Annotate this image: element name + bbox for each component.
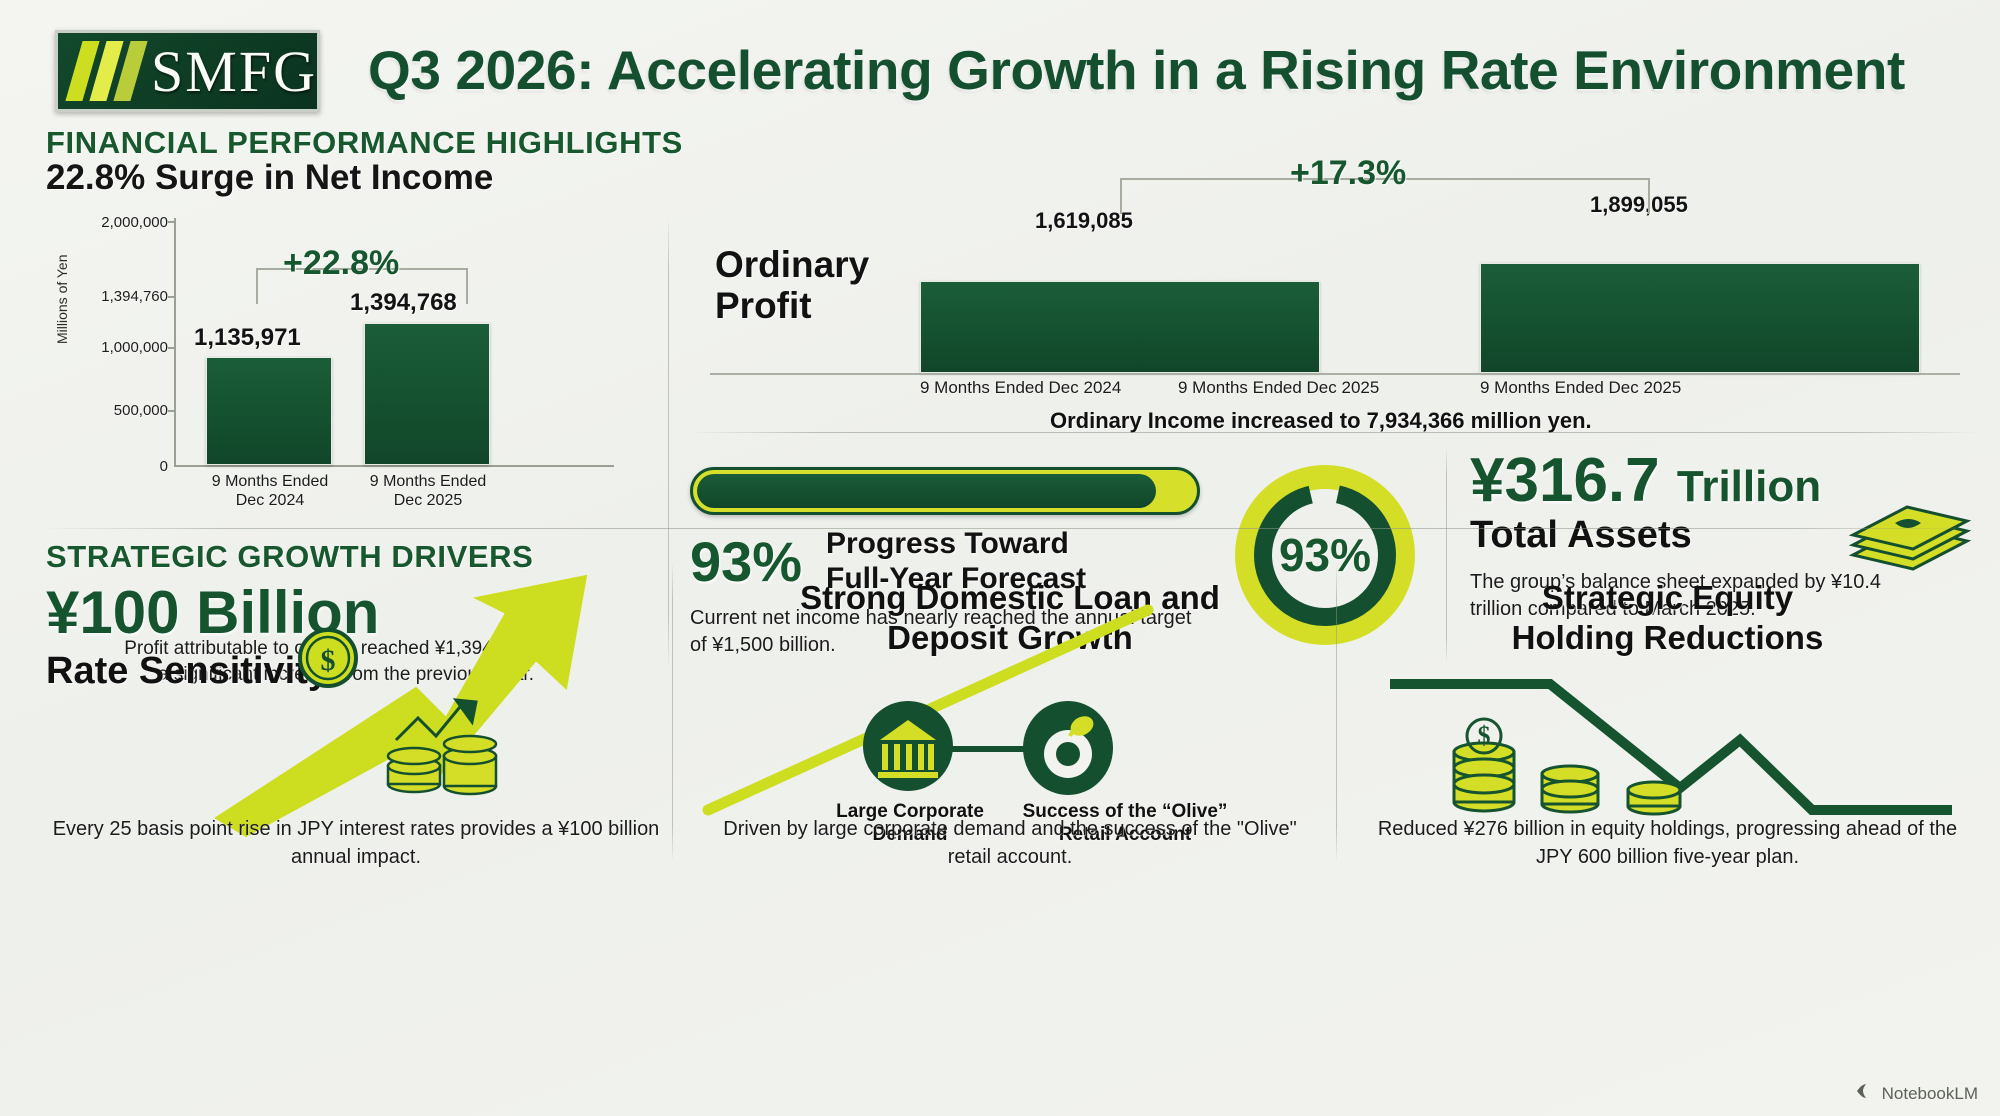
infographic-page: SMFG Q3 2026: Accelerating Growth in a R…	[0, 0, 2000, 1116]
assets-unit: Trillion	[1677, 462, 1821, 511]
net-income-headline: 22.8% Surge in Net Income	[46, 158, 636, 198]
ordinary-profit-label: Ordinary Profit	[715, 244, 869, 327]
ordinary-income-note: Ordinary Income increased to 7,934,366 m…	[1050, 408, 1592, 434]
driver3-title-line1: Strategic Equity	[1542, 579, 1793, 616]
net-income-delta: +22.8%	[283, 244, 399, 283]
driver3-title-line2: Holding Reductions	[1512, 619, 1824, 656]
logo-text: SMFG	[151, 38, 317, 105]
smfg-logo: SMFG	[55, 30, 320, 112]
op-value-2024: 1,619,085	[1035, 208, 1133, 234]
progress-title-line1: Progress Toward	[826, 527, 1069, 560]
op-x-category-2025: 9 Months Ended Dec 2025	[1480, 378, 1681, 398]
bar-value-2025: 1,394,768	[350, 289, 457, 317]
driver2-caption: Driven by large corporate demand and the…	[700, 816, 1320, 871]
y-tick-label: 2,000,000	[101, 214, 168, 231]
y-tick-label: 1,000,000	[101, 339, 168, 356]
ordinary-profit-delta: +17.3%	[1290, 154, 1406, 193]
bank-building-icon	[860, 698, 956, 799]
x-axis-line	[174, 465, 614, 467]
svg-text:$: $	[1478, 721, 1491, 750]
y-tick-label: 0	[160, 458, 168, 475]
divider-vertical-d2	[1336, 562, 1337, 862]
divider-vertical-d1	[672, 562, 673, 862]
net-income-bar-chart: Millions of Yen 2,000,000 1,394,760 1,00…	[46, 216, 636, 516]
upward-trend-line-icon	[700, 602, 1320, 822]
page-title: Q3 2026: Accelerating Growth in a Rising…	[368, 38, 1980, 102]
cash-stack-icon	[1845, 497, 1975, 577]
progress-bar-fill	[697, 474, 1156, 508]
op-bar-2024	[920, 281, 1320, 373]
x-category-2025: 9 Months EndedDec 2025	[354, 472, 502, 510]
bar-2025	[364, 323, 490, 465]
progress-bar-track	[690, 467, 1200, 515]
driver3-caption: Reduced ¥276 billion in equity holdings,…	[1360, 816, 1975, 871]
op-bar-2025	[1480, 263, 1920, 373]
bar-value-2024: 1,135,971	[194, 324, 301, 352]
op-label-line1: Ordinary	[715, 244, 869, 285]
divider-horizontal-main	[40, 528, 1980, 529]
shrinking-coin-stacks-icon: $	[1440, 706, 1700, 821]
ordinary-profit-panel: Ordinary Profit 1,619,085 1,899,055 +17.…	[690, 200, 1975, 425]
svg-text:$: $	[321, 644, 336, 677]
y-axis-line	[174, 218, 176, 466]
coin-stack-icon	[376, 688, 506, 803]
op-value-2025: 1,899,055	[1590, 192, 1688, 218]
y-tick-label: 500,000	[114, 402, 168, 419]
footer-brand: NotebookLM	[1882, 1084, 1978, 1104]
header: SMFG Q3 2026: Accelerating Growth in a R…	[0, 0, 2000, 132]
op-x-category-2025-left: 9 Months Ended Dec 2025	[1178, 378, 1379, 398]
divider-horizontal-op	[690, 432, 1980, 433]
assets-value: ¥316.7	[1470, 446, 1660, 515]
bar-2024	[206, 357, 332, 465]
net-income-panel: 22.8% Surge in Net Income Millions of Ye…	[46, 158, 636, 528]
driver3-title: Strategic Equity Holding Reductions	[1360, 578, 1975, 657]
op-label-line2: Profit	[715, 285, 812, 326]
y-tick-label: 1,394,760	[101, 288, 168, 305]
olive-leaf-icon	[1020, 696, 1116, 801]
notebooklm-icon	[1854, 1081, 1874, 1106]
smfg-parallelogram-mark-icon	[72, 41, 135, 101]
divider-vertical-left	[668, 215, 669, 670]
op-x-category-2024: 9 Months Ended Dec 2024	[920, 378, 1121, 398]
dollar-coin-icon: $	[296, 626, 360, 695]
driver1-caption: Every 25 basis point rise in JPY interes…	[46, 816, 666, 871]
op-x-axis-line	[710, 373, 1960, 375]
footer: NotebookLM	[1854, 1081, 1978, 1106]
x-category-2024: 9 Months EndedDec 2024	[196, 472, 344, 510]
section-label-financial: FINANCIAL PERFORMANCE HIGHLIGHTS	[46, 125, 683, 161]
y-axis-ticks: 2,000,000 1,394,760 1,000,000 500,000 0	[46, 216, 168, 476]
